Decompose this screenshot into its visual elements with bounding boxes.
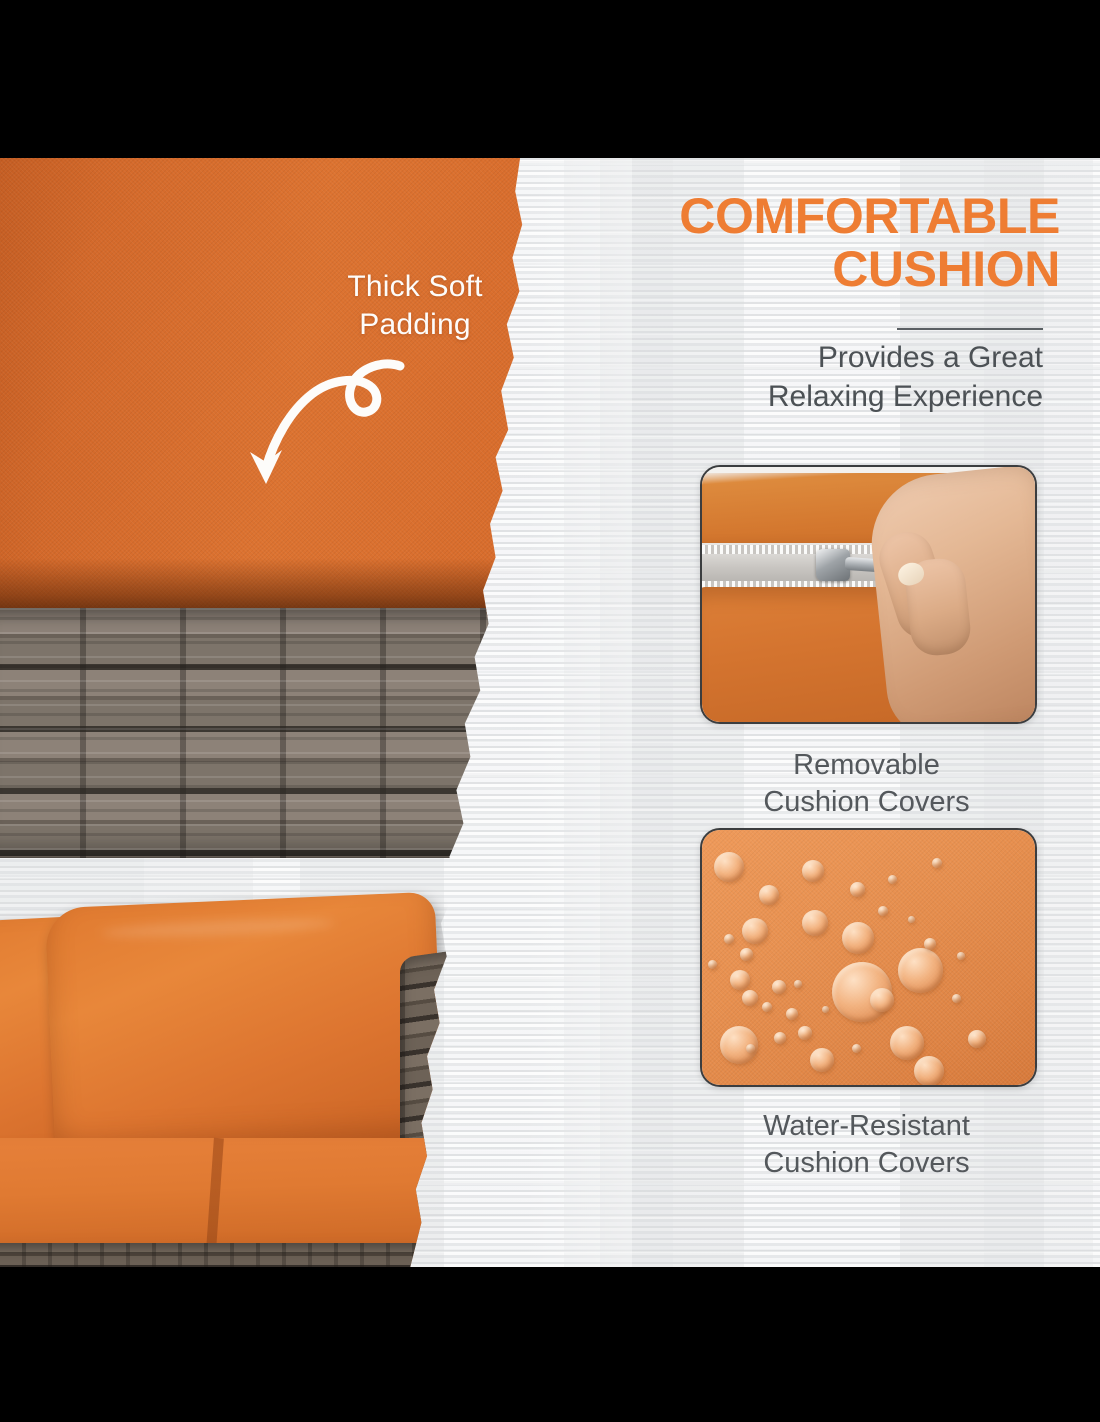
water-droplet: [772, 980, 786, 994]
subheadline-line-1: Provides a Great: [818, 341, 1043, 374]
right-column: COMFORTABLE CUSHION Provides a Great Rel…: [560, 158, 1100, 1267]
water-droplet: [878, 906, 888, 916]
water-droplet: [746, 1044, 755, 1053]
water-droplet: [714, 852, 744, 882]
water-droplet: [952, 994, 961, 1003]
water-droplet: [888, 875, 897, 884]
water-droplet: [822, 1006, 829, 1013]
water-droplet: [724, 934, 734, 944]
water-droplet: [730, 970, 750, 990]
caption-removable-covers: Removable Cushion Covers: [660, 747, 1073, 820]
water-droplet: [740, 948, 753, 961]
water-droplet-fabric: [702, 830, 1035, 1085]
water-droplet: [774, 1032, 786, 1044]
callout-line-2: Padding: [359, 308, 471, 341]
caption-water-resistant: Water-Resistant Cushion Covers: [660, 1108, 1073, 1181]
water-droplet: [890, 1026, 924, 1060]
headline: COMFORTABLE CUSHION: [560, 190, 1060, 296]
water-droplet: [802, 860, 824, 882]
subheadline: Provides a Great Relaxing Experience: [640, 338, 1043, 416]
headline-line-1: COMFORTABLE: [679, 188, 1060, 244]
callout-thick-soft-padding: Thick Soft Padding: [300, 268, 530, 344]
water-droplet: [742, 918, 768, 944]
water-droplet: [798, 1026, 812, 1040]
caption-1-line-2: Cushion Covers: [763, 786, 969, 818]
feature-image-removable-covers: [700, 465, 1037, 724]
water-droplet: [759, 885, 779, 905]
water-droplet: [786, 1008, 798, 1020]
water-droplet: [794, 980, 802, 988]
water-droplet: [932, 858, 942, 868]
subheadline-line-2: Relaxing Experience: [768, 380, 1043, 413]
water-droplet: [908, 916, 915, 923]
promo-banner: Thick Soft Padding COMFORTABLE CUSHION P…: [0, 158, 1100, 1267]
callout-line-1: Thick Soft: [347, 270, 482, 303]
water-droplet: [850, 882, 865, 897]
water-droplet: [968, 1030, 986, 1048]
caption-2-line-2: Cushion Covers: [763, 1147, 969, 1179]
water-droplet: [957, 952, 965, 960]
water-droplet: [742, 990, 758, 1006]
water-droplet: [924, 938, 936, 950]
water-droplet: [842, 922, 874, 954]
water-droplet: [762, 1002, 772, 1012]
water-droplet: [914, 1056, 944, 1086]
headline-divider: [897, 328, 1043, 330]
water-droplet: [852, 1044, 861, 1053]
water-droplet: [898, 948, 943, 993]
water-droplet: [802, 910, 828, 936]
caption-2-line-1: Water-Resistant: [763, 1110, 970, 1142]
headline-line-2: CUSHION: [560, 243, 1060, 296]
feature-image-water-resistant: [700, 828, 1037, 1087]
water-droplet: [708, 960, 717, 969]
caption-1-line-1: Removable: [793, 749, 940, 781]
water-droplet: [810, 1048, 834, 1072]
zipper-scene: [702, 467, 1035, 722]
pillow-main: [45, 892, 446, 1159]
water-droplet: [870, 988, 894, 1012]
